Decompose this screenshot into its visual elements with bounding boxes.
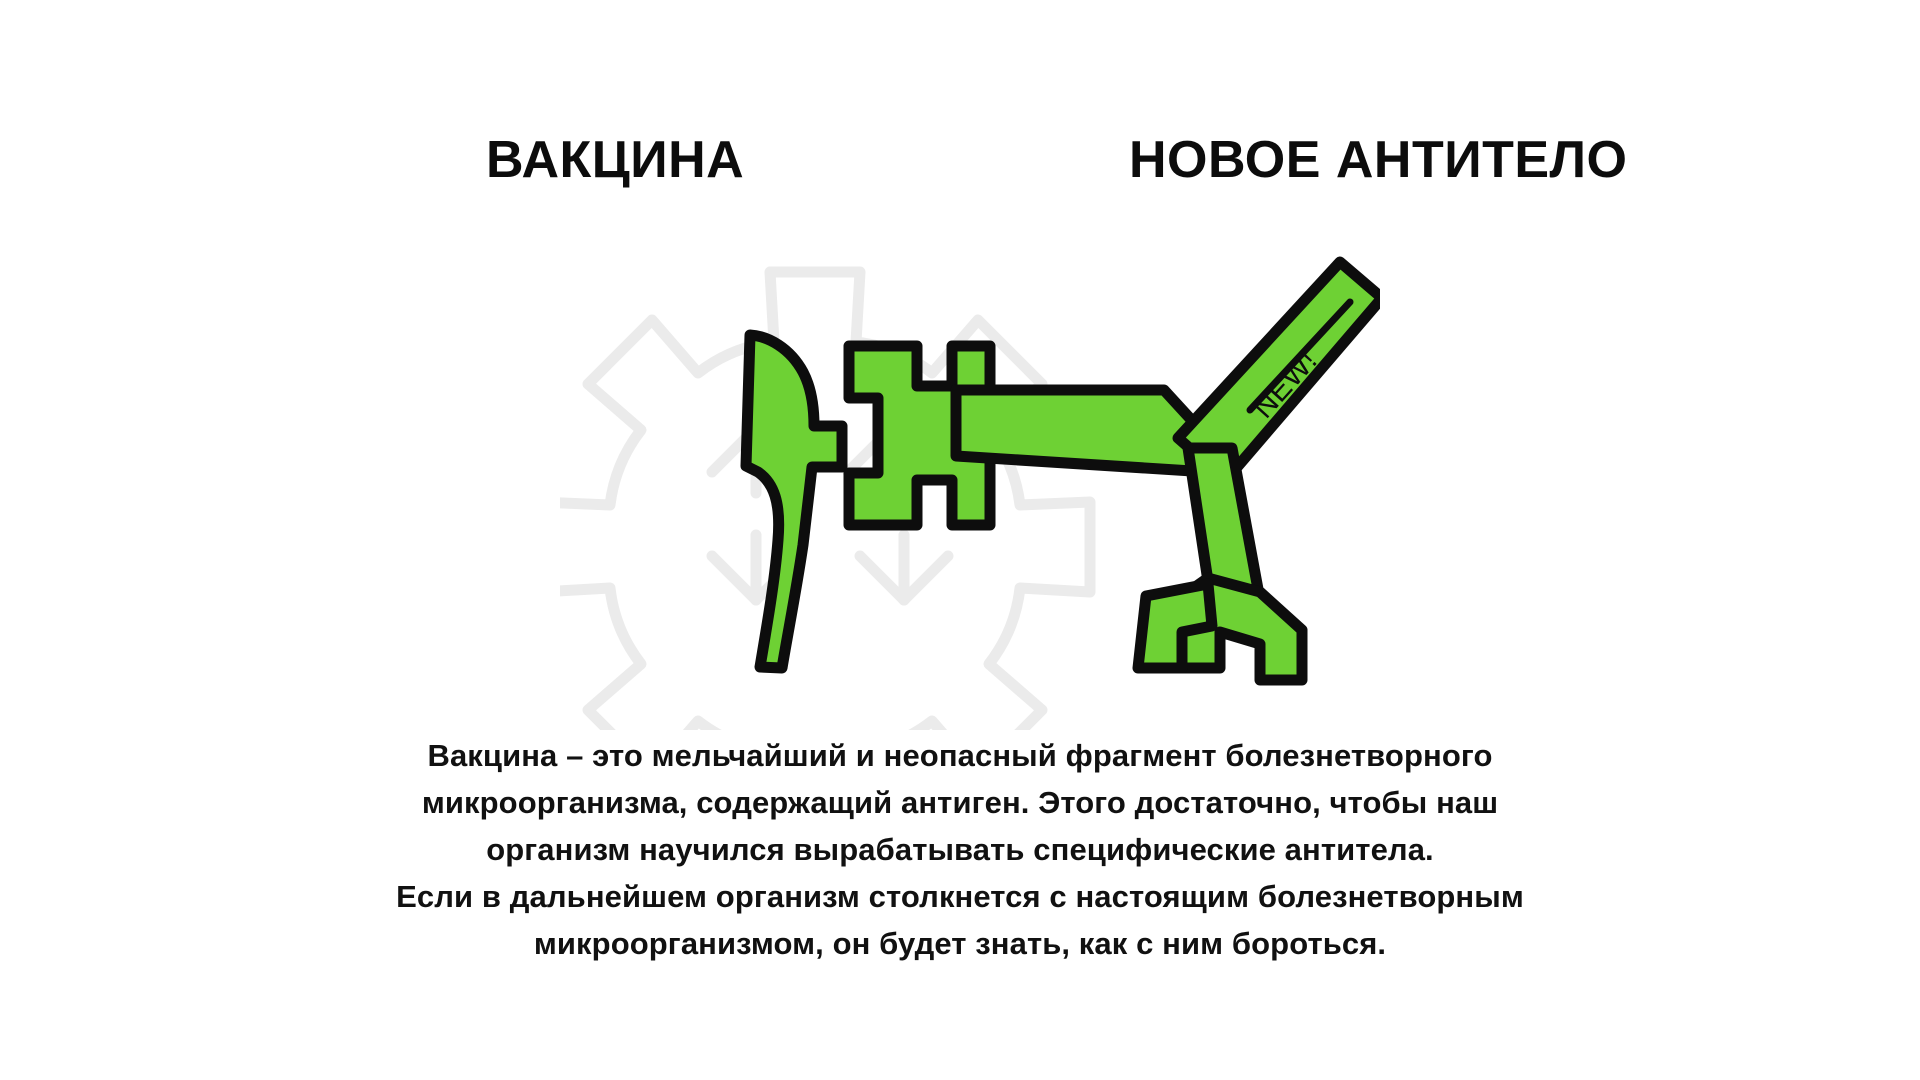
body-line-3: организм научился вырабатывать специфиче…: [260, 826, 1660, 873]
body-line-5: микроорганизмом, он будет знать, как с н…: [260, 920, 1660, 967]
body-line-1: Вакцина – это мельчайший и неопасный фра…: [260, 732, 1660, 779]
antigen-hook: [746, 335, 842, 668]
antibody-arm-horizontal: [956, 390, 1208, 472]
body-copy: Вакцина – это мельчайший и неопасный фра…: [260, 732, 1660, 967]
illustration-antibody-binding: NEW!: [560, 240, 1380, 730]
heading-vaccine: ВАКЦИНА: [486, 134, 744, 186]
body-line-2: микроорганизма, содержащий антиген. Этог…: [260, 779, 1660, 826]
slide-canvas: ВАКЦИНА НОВОЕ АНТИТЕЛО: [0, 0, 1920, 1080]
body-line-4: Если в дальнейшем организм столкнется с …: [260, 873, 1660, 920]
heading-new-antibody: НОВОЕ АНТИТЕЛО: [1129, 134, 1627, 186]
gear-virus-watermark: [560, 272, 1090, 730]
